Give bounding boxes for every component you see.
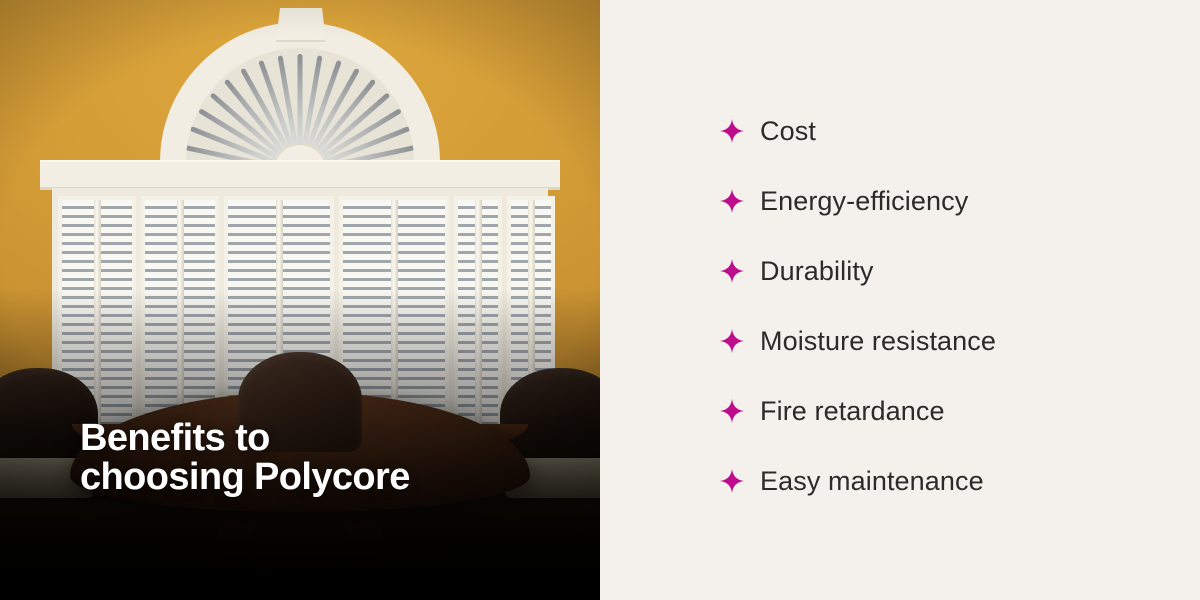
benefit-item: Easy maintenance (720, 446, 996, 516)
benefit-item: Energy-efficiency (720, 166, 996, 236)
benefits-panel: CostEnergy-efficiencyDurabilityMoisture … (600, 0, 1200, 600)
sparkle-icon (720, 189, 744, 213)
benefit-label: Fire retardance (760, 398, 945, 425)
benefit-label: Durability (760, 258, 874, 285)
image-overlay-gradient (0, 0, 600, 600)
hero-headline: Benefits to choosing Polycore (80, 419, 550, 497)
promo-banner: Benefits to choosing Polycore CostEnergy… (0, 0, 1200, 600)
headline-line-1: Benefits to (80, 419, 550, 458)
benefits-list: CostEnergy-efficiencyDurabilityMoisture … (720, 96, 996, 516)
sparkle-icon (720, 469, 744, 493)
sparkle-icon (720, 259, 744, 283)
benefit-label: Moisture resistance (760, 328, 996, 355)
benefit-label: Cost (760, 118, 816, 145)
hero-image-panel: Benefits to choosing Polycore (0, 0, 600, 600)
benefit-item: Moisture resistance (720, 306, 996, 376)
sparkle-icon (720, 399, 744, 423)
sparkle-icon (720, 329, 744, 353)
dining-room-photo (0, 0, 600, 600)
benefit-label: Easy maintenance (760, 468, 984, 495)
benefit-item: Cost (720, 96, 996, 166)
sparkle-icon (720, 119, 744, 143)
headline-line-2: choosing Polycore (80, 458, 550, 497)
benefit-item: Durability (720, 236, 996, 306)
benefit-item: Fire retardance (720, 376, 996, 446)
benefit-label: Energy-efficiency (760, 188, 968, 215)
